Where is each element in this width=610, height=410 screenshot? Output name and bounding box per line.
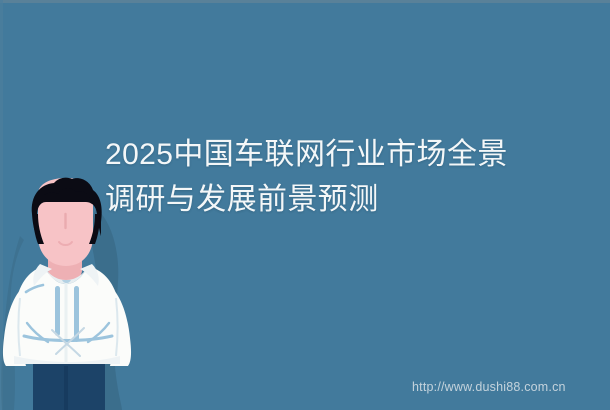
promo-banner: 2025中国车联网行业市场全景 调研与发展前景预测 http://www.dus…	[0, 0, 610, 410]
title-line-1: 2025中国车联网行业市场全景	[105, 132, 575, 177]
title-line-2: 调研与发展前景预测	[105, 177, 575, 222]
banner-title: 2025中国车联网行业市场全景 调研与发展前景预测	[105, 132, 575, 222]
watermark-url: http://www.dushi88.com.cn	[412, 380, 566, 394]
top-edge-line	[0, 0, 610, 3]
